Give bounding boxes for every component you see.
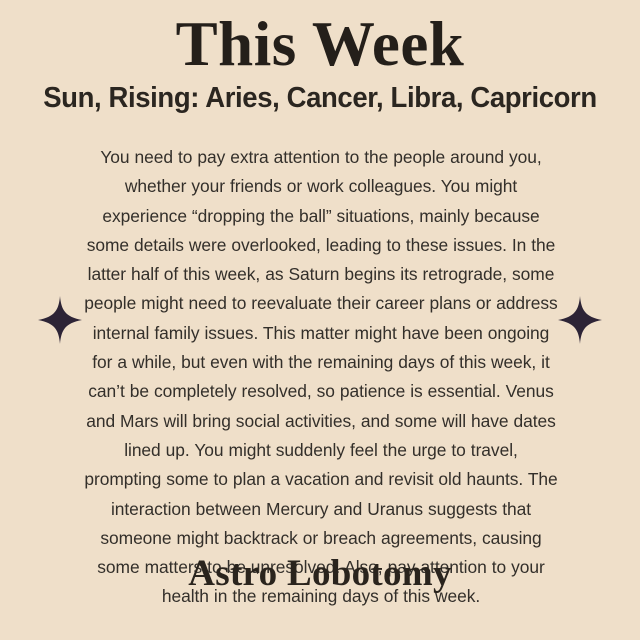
horoscope-body-text: You need to pay extra attention to the p… xyxy=(84,143,558,612)
poster-footer: Astro Lobotomy xyxy=(0,552,640,596)
horoscope-body-container: You need to pay extra attention to the p… xyxy=(84,143,558,612)
poster-header: This Week Sun, Rising: Aries, Cancer, Li… xyxy=(0,0,640,116)
poster-subtitle: Sun, Rising: Aries, Cancer, Libra, Capri… xyxy=(11,80,629,116)
horoscope-poster: This Week Sun, Rising: Aries, Cancer, Li… xyxy=(0,0,640,640)
sparkle-icon-left xyxy=(38,296,82,344)
brand-name: Astro Lobotomy xyxy=(0,552,640,596)
sparkle-icon-right xyxy=(558,296,602,344)
page-title: This Week xyxy=(0,0,640,80)
